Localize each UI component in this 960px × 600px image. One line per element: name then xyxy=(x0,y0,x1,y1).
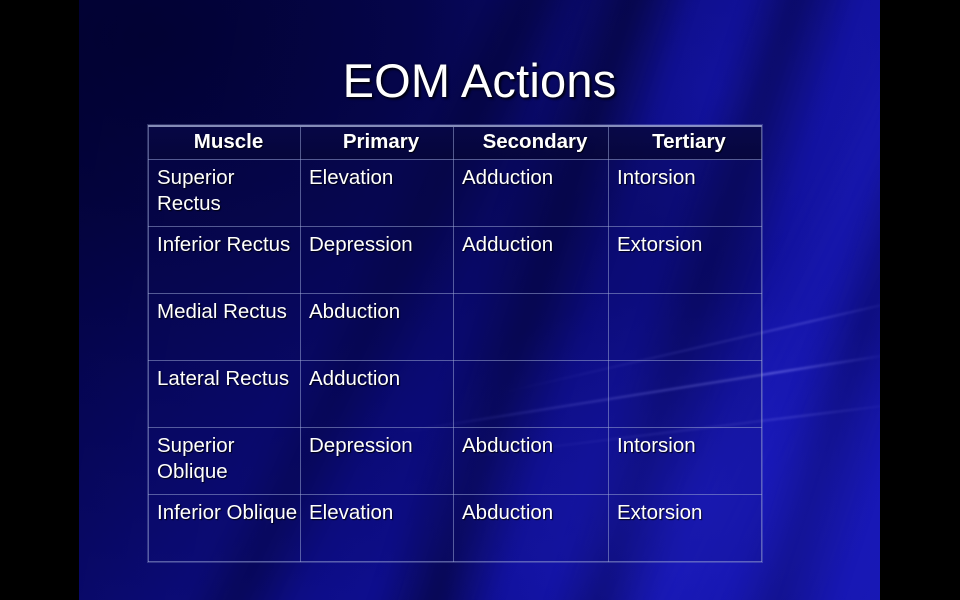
eom-actions-table: Muscle Primary Secondary Tertiary Superi… xyxy=(148,125,762,562)
column-header-primary: Primary xyxy=(301,126,454,160)
column-header-secondary: Secondary xyxy=(454,126,609,160)
slide-viewport: EOM Actions Muscle Primary Secondary Ter… xyxy=(0,0,960,600)
cell-muscle: Lateral Rectus xyxy=(149,361,301,428)
slide-title: EOM Actions xyxy=(79,56,880,106)
cell-primary: Adduction xyxy=(301,361,454,428)
cell-muscle: Inferior Rectus xyxy=(149,227,301,294)
table-row: Inferior Oblique Elevation Abduction Ext… xyxy=(149,495,762,562)
column-header-muscle: Muscle xyxy=(149,126,301,160)
cell-secondary: Abduction xyxy=(454,495,609,562)
presentation-slide: EOM Actions Muscle Primary Secondary Ter… xyxy=(79,0,880,600)
cell-muscle: Superior Oblique xyxy=(149,428,301,495)
cell-tertiary xyxy=(609,361,762,428)
table-row: Medial Rectus Abduction xyxy=(149,294,762,361)
cell-primary: Elevation xyxy=(301,160,454,227)
cell-tertiary: Intorsion xyxy=(609,160,762,227)
table-row: Superior Rectus Elevation Adduction Into… xyxy=(149,160,762,227)
cell-primary: Depression xyxy=(301,227,454,294)
cell-primary: Depression xyxy=(301,428,454,495)
table-row: Superior Oblique Depression Abduction In… xyxy=(149,428,762,495)
cell-secondary: Abduction xyxy=(454,428,609,495)
cell-tertiary xyxy=(609,294,762,361)
cell-primary: Elevation xyxy=(301,495,454,562)
cell-tertiary: Extorsion xyxy=(609,227,762,294)
cell-secondary: Adduction xyxy=(454,227,609,294)
cell-tertiary: Extorsion xyxy=(609,495,762,562)
cell-tertiary: Intorsion xyxy=(609,428,762,495)
table-header-row: Muscle Primary Secondary Tertiary xyxy=(149,126,762,160)
cell-muscle: Medial Rectus xyxy=(149,294,301,361)
cell-secondary xyxy=(454,361,609,428)
cell-secondary: Adduction xyxy=(454,160,609,227)
table-row: Inferior Rectus Depression Adduction Ext… xyxy=(149,227,762,294)
table-row: Lateral Rectus Adduction xyxy=(149,361,762,428)
letterbox-bar-left xyxy=(0,0,79,600)
column-header-tertiary: Tertiary xyxy=(609,126,762,160)
cell-muscle: Superior Rectus xyxy=(149,160,301,227)
letterbox-bar-right xyxy=(880,0,960,600)
cell-secondary xyxy=(454,294,609,361)
cell-primary: Abduction xyxy=(301,294,454,361)
cell-muscle: Inferior Oblique xyxy=(149,495,301,562)
